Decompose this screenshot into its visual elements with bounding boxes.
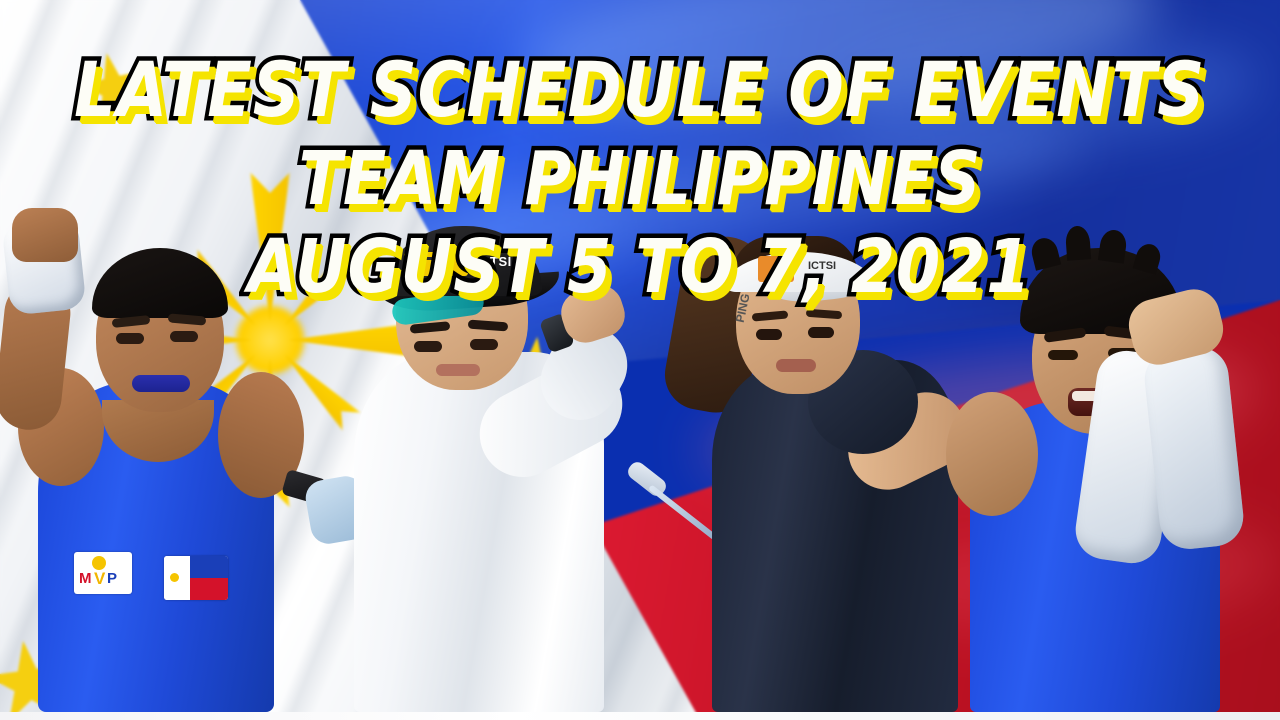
golfer-female-eye	[756, 329, 782, 340]
bottom-strip	[0, 712, 1280, 720]
philippine-flag-patch	[164, 556, 228, 600]
thumbnail-canvas: M V P	[0, 0, 1280, 720]
patch-sun-icon	[170, 573, 179, 582]
visor-ictsi-label: ICTSI	[808, 261, 836, 272]
boxer-right-eye	[1048, 350, 1078, 360]
athlete-cutouts: M V P	[0, 0, 1280, 720]
athlete-boxer-left: M V P	[0, 232, 322, 712]
boxer-right-hair-spike	[1098, 228, 1128, 263]
boxer-left-eye	[116, 333, 144, 344]
boxer-left-fist	[12, 208, 78, 262]
boxer-left-eye	[170, 331, 198, 342]
visor-sponsor-patch	[758, 256, 794, 282]
boxer-right-hair-spike	[1029, 235, 1061, 270]
mvp-letter-v: V	[94, 570, 105, 587]
golfer-male-eye	[414, 341, 442, 352]
cap-ictsi-label: ICTSI	[476, 255, 512, 268]
mvp-letter-m: M	[79, 571, 92, 586]
athlete-golfer-male: ICTSI	[300, 172, 640, 712]
golfer-male-mouth	[436, 364, 480, 376]
boxer-right-shoulder	[946, 392, 1038, 516]
boxer-right-hair-spike	[1065, 225, 1091, 261]
cap-sponsor-patch	[404, 252, 468, 276]
golfer-male-eye	[470, 339, 498, 350]
athlete-golfer-female: ICTSI PING	[640, 172, 970, 712]
golfer-female-eye	[808, 327, 834, 338]
boxer-left-mouth	[132, 375, 190, 392]
mvp-sun-icon	[92, 556, 106, 570]
golfer-female-mouth	[776, 359, 816, 372]
athlete-boxer-right	[940, 212, 1280, 712]
mvp-letter-p: P	[107, 571, 117, 586]
boxer-left-hair	[92, 248, 228, 318]
mvp-sponsor-patch: M V P	[74, 552, 132, 594]
